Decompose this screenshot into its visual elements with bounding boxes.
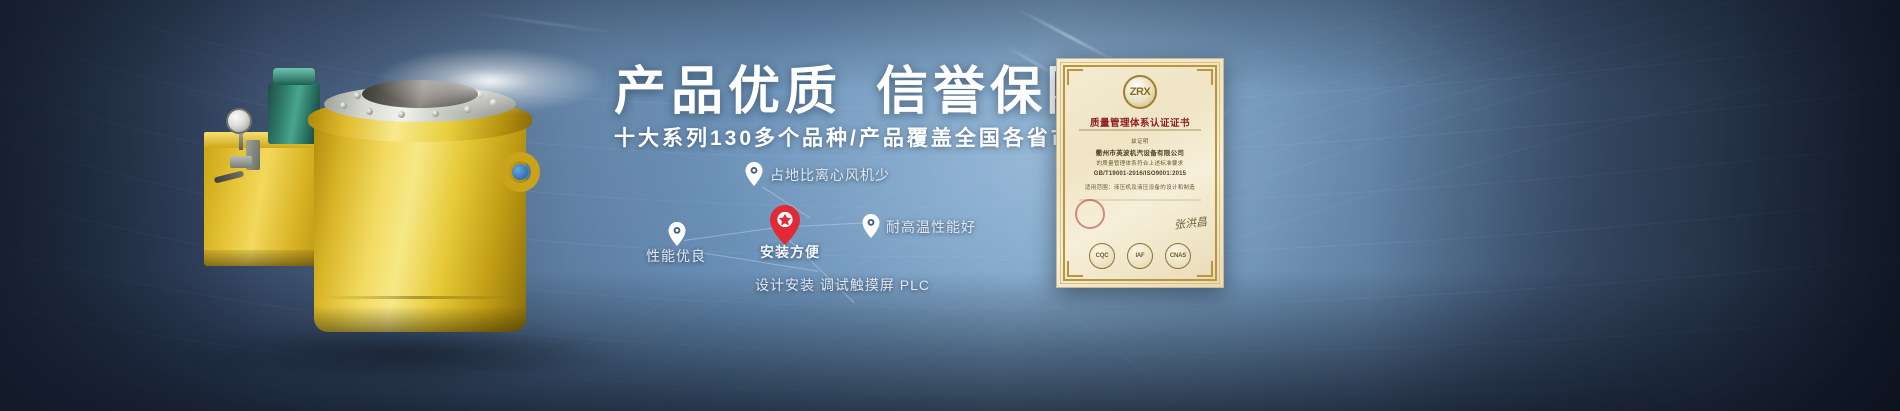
- pin-label-1: 耐高温性能好: [886, 217, 976, 237]
- certificate-divider: [1079, 129, 1201, 131]
- map-pin-icon[interactable]: [745, 162, 763, 186]
- banner-headline: 产品优质信誉保障: [614, 66, 1104, 118]
- motor-fan-cover: [273, 68, 315, 84]
- pin-label-3: 性能优良: [646, 246, 706, 266]
- pressure-gauge: [226, 108, 252, 134]
- certificate-corner: [1067, 69, 1083, 85]
- map-pin-icon[interactable]: [668, 222, 686, 246]
- pin-label-0: 占地比离心风机少: [770, 165, 890, 185]
- map-pin-star-icon[interactable]: [770, 205, 800, 245]
- accreditation-logo-0: CQC: [1089, 243, 1115, 269]
- certificate-scope-note: 的质量管理体系符合上述标准要求: [1057, 159, 1223, 167]
- accreditation-logo-1: IAF: [1127, 243, 1153, 269]
- certificate-standard: GB/T19001-2016/ISO9001:2015: [1057, 171, 1223, 177]
- certificate-emblem: ZRX: [1123, 75, 1157, 109]
- pin-label-2: 安装方便: [760, 242, 820, 262]
- flange-bolt: [354, 92, 361, 99]
- certificate-image: ZRX 质量管理体系认证证书 兹证明 衢州市英波机汽设备有限公司 的质量管理体系…: [1056, 58, 1224, 288]
- cylinder-seam: [322, 296, 518, 299]
- certificate-seal: [1075, 199, 1105, 229]
- certificate-signature: 张洪昌: [1173, 213, 1207, 232]
- accreditation-logo-2: CNAS: [1165, 243, 1191, 269]
- certificate-scope-detail: 适用范围：液压机及液压设备的设计和制造: [1057, 183, 1223, 191]
- certificate-accreditation-logos: CQC IAF CNAS: [1057, 243, 1223, 269]
- bottom-note: 设计安装 调试触摸屏 PLC: [755, 275, 930, 295]
- product-photo: [118, 24, 638, 364]
- product-shadow: [188, 324, 628, 384]
- headline-part-1: 产品优质: [614, 63, 842, 121]
- certificate-company-name: 衢州市英波机汽设备有限公司: [1057, 147, 1223, 157]
- hydraulic-cylinder-body: [314, 120, 526, 332]
- photo-glare: [370, 46, 610, 116]
- valve-manifold: [230, 156, 252, 168]
- banner-subline: 十大系列130多个品种/产品覆盖全国各省市: [614, 128, 1075, 149]
- promo-banner: 产品优质信誉保障 十大系列130多个品种/产品覆盖全国各省市 占地比离心风机少 …: [0, 0, 1900, 411]
- map-pin-icon[interactable]: [862, 214, 880, 238]
- certificate-title: 质量管理体系认证证书: [1057, 115, 1223, 129]
- certificate-company-label: 兹证明: [1057, 137, 1223, 145]
- lifting-lug: [500, 152, 540, 192]
- certificate-corner: [1197, 69, 1213, 85]
- flange-bolt: [340, 102, 347, 109]
